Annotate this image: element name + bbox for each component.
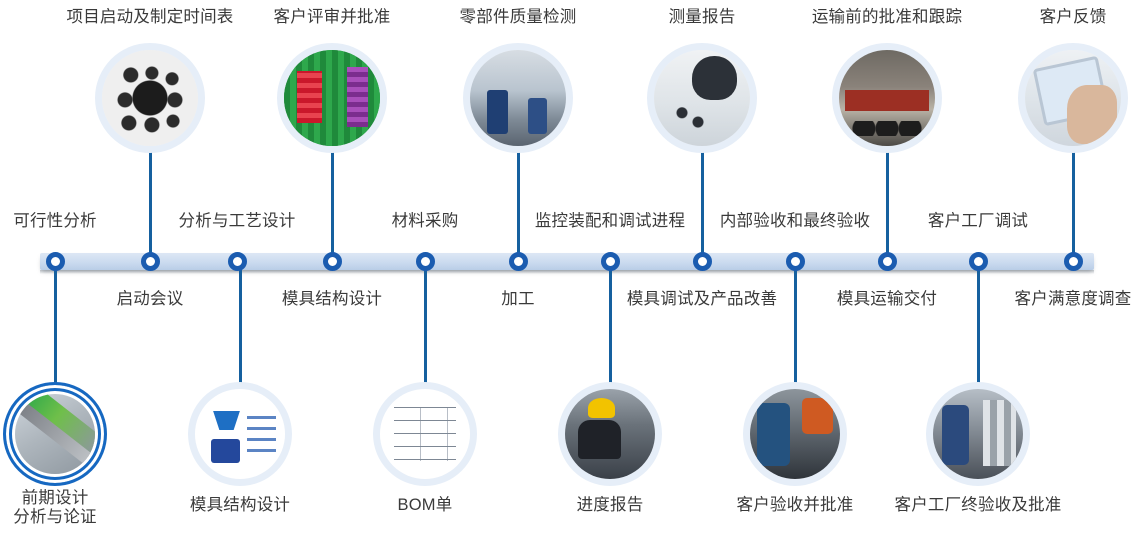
bottom-milestone-image-1	[15, 394, 95, 474]
above-axis-label-2: 分析与工艺设计	[179, 212, 296, 231]
top-milestone-label-3: 零部件质量检测	[460, 8, 577, 27]
bottom-milestone-image-5	[750, 389, 840, 479]
top-milestone-2[interactable]	[277, 43, 387, 153]
timeline-node-11[interactable]	[969, 252, 988, 271]
bottom-milestone-6[interactable]	[926, 382, 1030, 486]
top-milestone-label-2: 客户评审并批准	[274, 8, 391, 27]
top-milestone-image-4	[654, 50, 750, 146]
above-axis-label-6: 客户工厂调试	[928, 212, 1028, 231]
welding-worker-photo-icon	[565, 389, 655, 479]
timeline-node-9[interactable]	[786, 252, 805, 271]
bottom-milestone-3[interactable]	[373, 382, 477, 486]
top-milestone-image-5	[839, 50, 935, 146]
circuit-board-photo-icon	[284, 50, 380, 146]
bottom-milestone-label-3: BOM单	[398, 496, 453, 515]
timeline-node-5[interactable]	[416, 252, 435, 271]
bottom-connector-6	[977, 262, 980, 386]
bom-table-document-icon	[380, 389, 470, 479]
above-axis-label-5: 内部验收和最终验收	[720, 212, 870, 231]
below-axis-label-6: 客户满意度调查	[1015, 290, 1132, 309]
below-axis-label-3: 加工	[501, 290, 534, 309]
bottom-milestone-image-4	[565, 389, 655, 479]
bottom-milestone-label-5: 客户验收并批准	[737, 496, 854, 515]
timeline-node-8[interactable]	[693, 252, 712, 271]
bottom-connector-3	[424, 262, 427, 386]
document-lines-icon	[247, 416, 276, 459]
timeline-axis-bar	[40, 253, 1094, 270]
truck-loading-photo-icon	[839, 50, 935, 146]
top-connector-3	[517, 148, 520, 260]
timeline-node-6[interactable]	[509, 252, 528, 271]
phone-icons-collage-icon	[102, 50, 198, 146]
below-axis-label-1: 启动会议	[117, 290, 184, 309]
timeline-node-7[interactable]	[601, 252, 620, 271]
bottom-milestone-label-1: 前期设计分析与论证	[0, 489, 130, 527]
top-milestone-image-2	[284, 50, 380, 146]
top-milestone-3[interactable]	[463, 43, 573, 153]
factory-inspection-photo-icon	[470, 50, 566, 146]
bottom-milestone-1[interactable]	[3, 382, 107, 486]
below-axis-label-4: 模具调试及产品改善	[627, 290, 777, 309]
top-connector-1	[149, 148, 152, 260]
above-axis-label-3: 材料采购	[392, 212, 459, 231]
final-acceptance-photo-icon	[933, 389, 1023, 479]
timeline-node-10[interactable]	[878, 252, 897, 271]
top-milestone-5[interactable]	[832, 43, 942, 153]
top-milestone-label-4: 测量报告	[669, 8, 736, 27]
timeline-node-4[interactable]	[323, 252, 342, 271]
below-axis-label-2: 模具结构设计	[282, 290, 382, 309]
above-axis-label-4: 监控装配和调试进程	[535, 212, 685, 231]
timeline-node-1[interactable]	[46, 252, 65, 271]
bottom-connector-2	[239, 262, 242, 386]
bottom-milestone-label-2: 模具结构设计	[190, 496, 290, 515]
cad-simulation-render-icon	[15, 394, 95, 474]
tablet-survey-photo-icon	[1025, 50, 1121, 146]
bottom-connector-5	[794, 262, 797, 386]
top-connector-2	[331, 148, 334, 260]
bottom-milestone-image-6	[933, 389, 1023, 479]
top-milestone-label-1: 项目启动及制定时间表	[67, 8, 234, 27]
bottom-milestone-4[interactable]	[558, 382, 662, 486]
top-milestone-6[interactable]	[1018, 43, 1128, 153]
bottom-milestone-image-2	[195, 389, 285, 479]
measurement-lab-photo-icon	[654, 50, 750, 146]
bottom-milestone-2[interactable]	[188, 382, 292, 486]
mold-design-document-icon	[195, 389, 285, 479]
top-milestone-label-6: 客户反馈	[1040, 8, 1107, 27]
bottom-milestone-label-6: 客户工厂终验收及批准	[895, 496, 1062, 515]
timeline-node-3[interactable]	[228, 252, 247, 271]
top-milestone-4[interactable]	[647, 43, 757, 153]
top-milestone-label-5: 运输前的批准和跟踪	[812, 8, 962, 27]
bottom-milestone-label-4: 进度报告	[577, 496, 644, 515]
timeline-node-12[interactable]	[1064, 252, 1083, 271]
bottom-milestone-image-3	[380, 389, 470, 479]
top-connector-4	[701, 148, 704, 260]
timeline-node-2[interactable]	[141, 252, 160, 271]
bottom-connector-4	[609, 262, 612, 386]
customer-inspection-photo-icon	[750, 389, 840, 479]
below-axis-label-5: 模具运输交付	[837, 290, 937, 309]
top-connector-5	[886, 148, 889, 260]
bom-table-grid-icon	[394, 407, 455, 461]
top-milestone-image-6	[1025, 50, 1121, 146]
bottom-connector-1	[54, 262, 57, 386]
bottom-milestone-5[interactable]	[743, 382, 847, 486]
top-connector-6	[1072, 148, 1075, 260]
top-milestone-image-1	[102, 50, 198, 146]
top-milestone-1[interactable]	[95, 43, 205, 153]
above-axis-label-1: 可行性分析	[13, 212, 97, 231]
timeline-infographic: 项目启动及制定时间表客户评审并批准零部件质量检测测量报告运输前的批准和跟踪客户反…	[0, 0, 1134, 533]
top-milestone-image-3	[470, 50, 566, 146]
